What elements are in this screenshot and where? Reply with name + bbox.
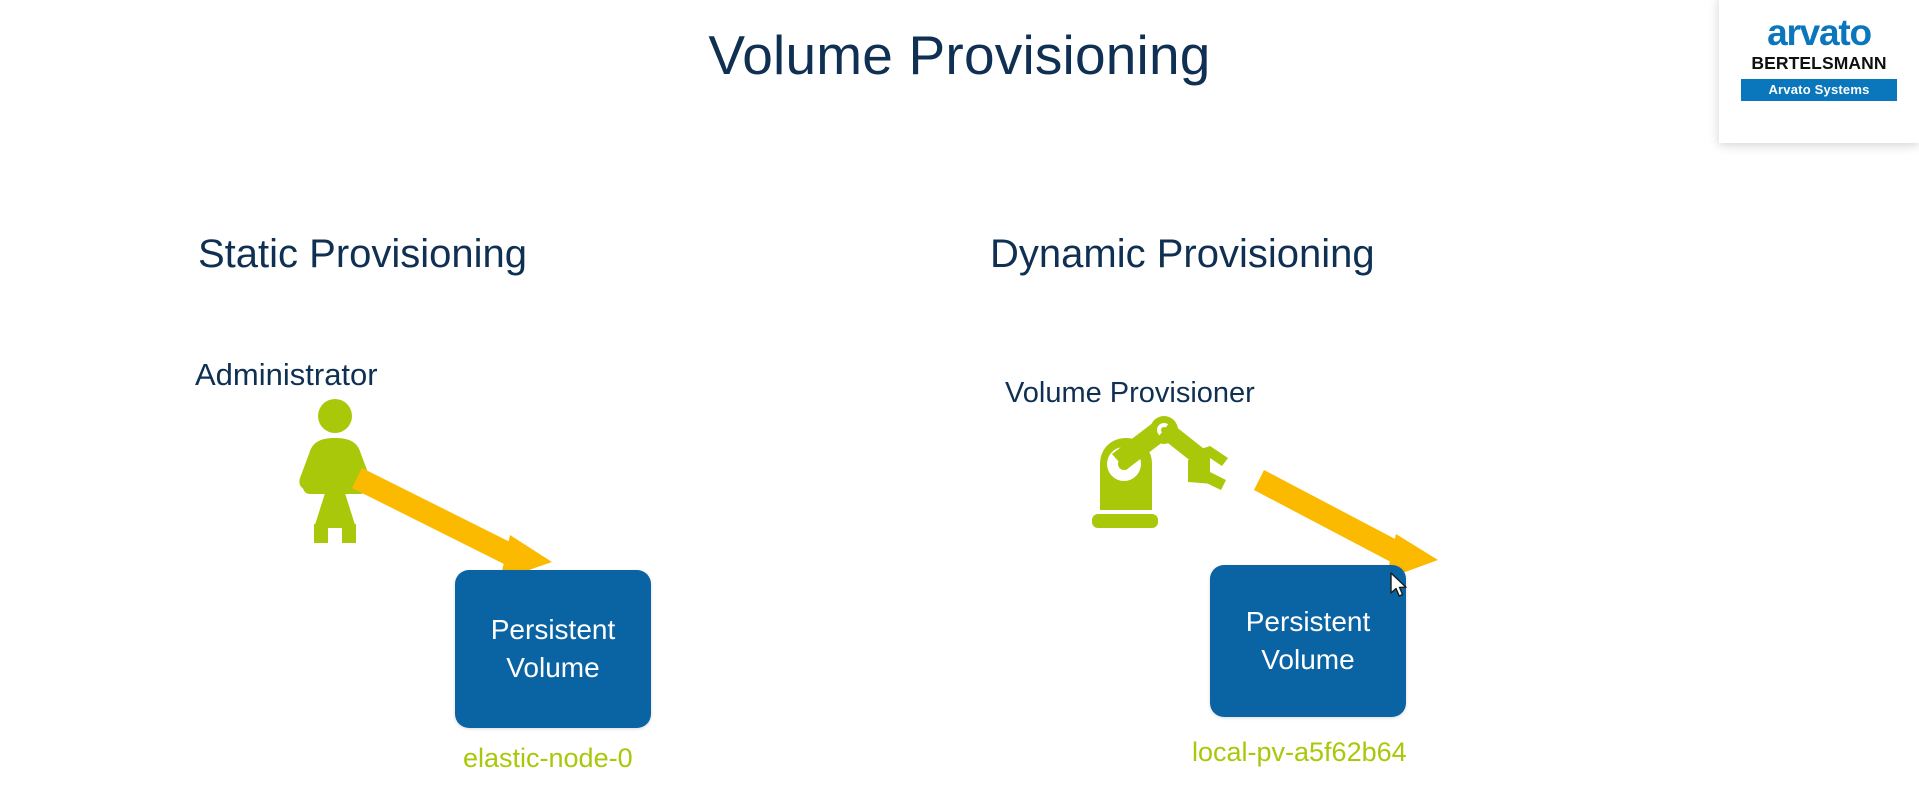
column-dynamic-provisioning: Dynamic Provisioning Volume Provisioner … (900, 0, 1720, 812)
logo-wordmark: arvato (1741, 14, 1897, 51)
heading-static-provisioning: Static Provisioning (198, 230, 527, 278)
column-static-provisioning: Static Provisioning Administrator Persis… (30, 0, 850, 812)
caption-elastic-node: elastic-node-0 (463, 742, 633, 774)
persistent-volume-box-static[interactable]: Persistent Volume (455, 570, 651, 728)
label-administrator: Administrator (195, 356, 378, 393)
logo-business-unit: Arvato Systems (1741, 79, 1897, 101)
mouse-pointer-icon (1390, 572, 1408, 598)
pv-box-line-1: Persistent (491, 611, 616, 649)
caption-local-pv: local-pv-a5f62b64 (1192, 736, 1407, 768)
pv-box-line-2: Volume (1261, 641, 1354, 679)
persistent-volume-box-dynamic[interactable]: Persistent Volume (1210, 565, 1406, 717)
arvato-logo-card: arvato BERTELSMANN Arvato Systems (1719, 0, 1919, 143)
logo-parent-brand: BERTELSMANN (1741, 55, 1897, 73)
heading-dynamic-provisioning: Dynamic Provisioning (990, 230, 1375, 278)
pv-box-line-2: Volume (506, 649, 599, 687)
label-volume-provisioner: Volume Provisioner (1005, 376, 1255, 411)
logo-inner: arvato BERTELSMANN Arvato Systems (1741, 14, 1897, 101)
pv-box-line-1: Persistent (1246, 603, 1371, 641)
